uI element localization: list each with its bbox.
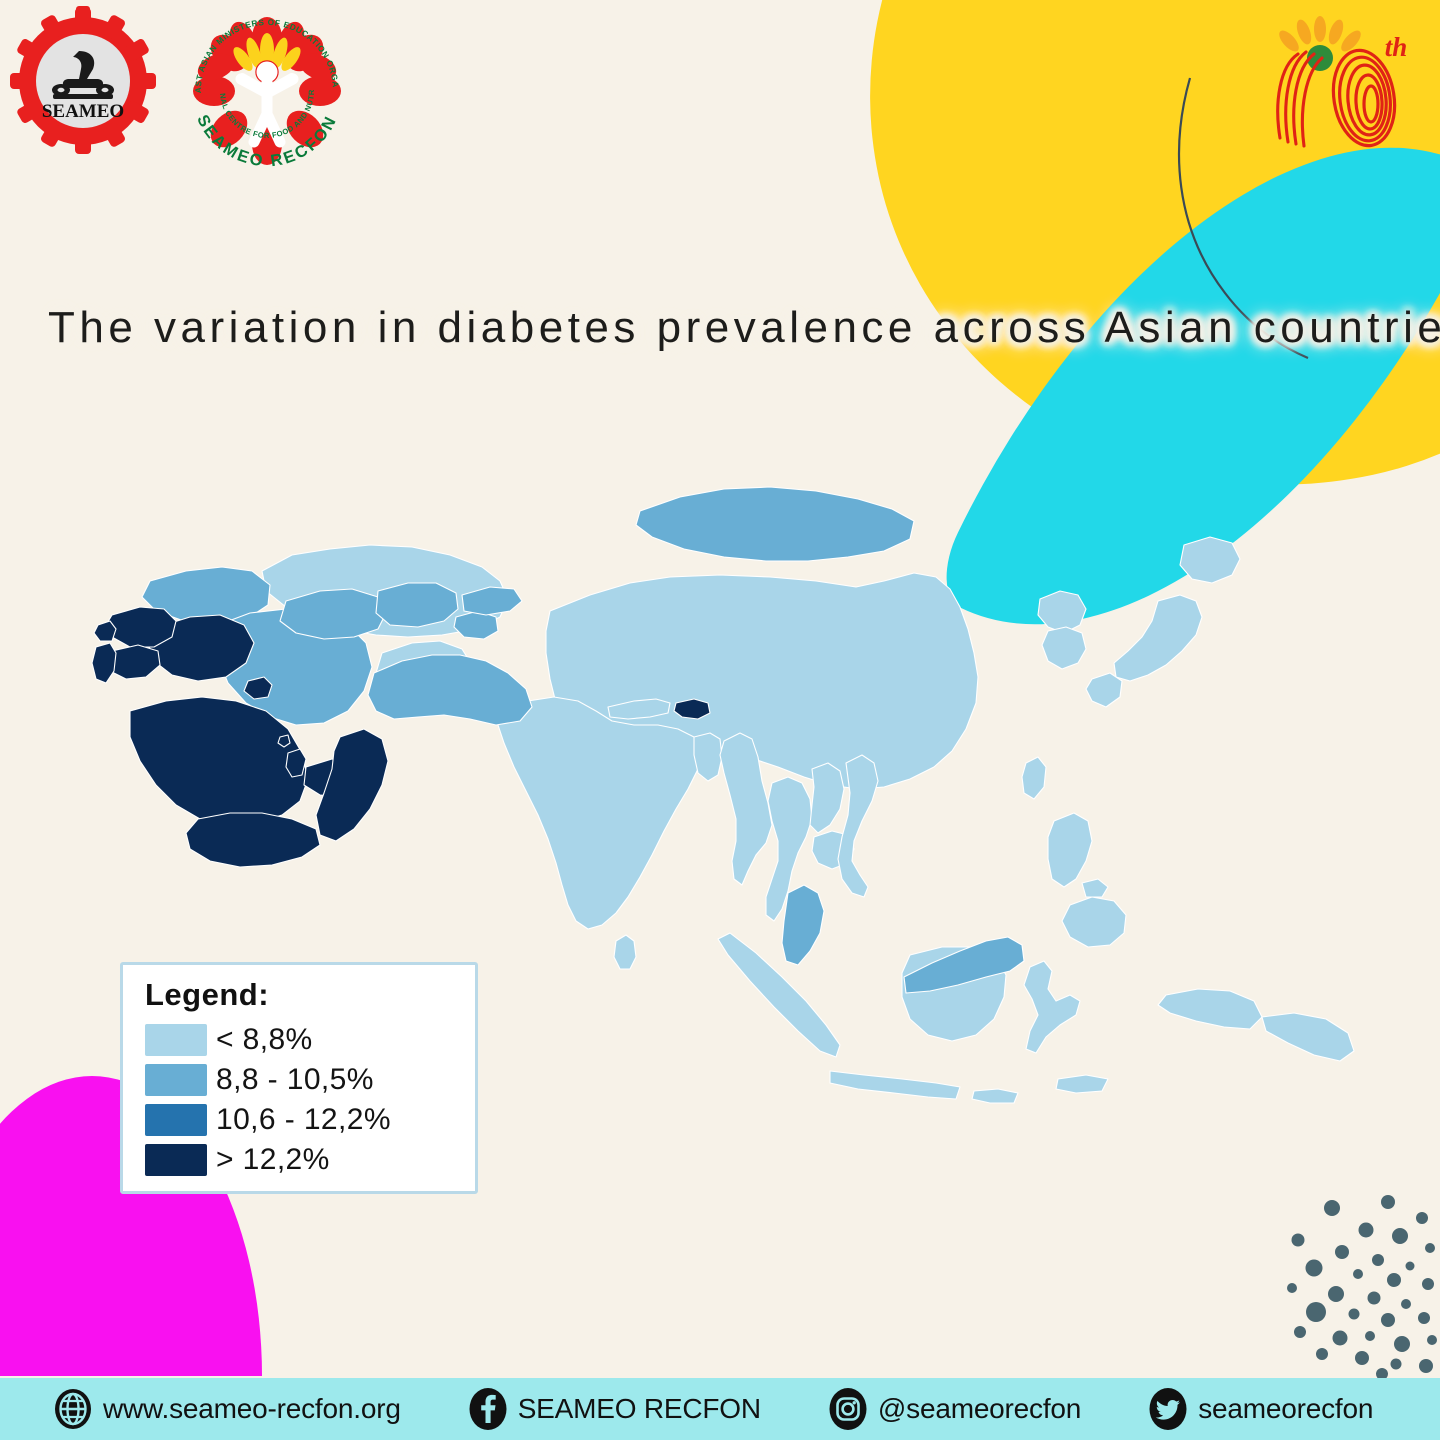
region-israel <box>92 643 116 683</box>
seameo-recfon-logo: SOUTHEAST ASIAN MINISTERS OF EDUCATION O… <box>176 0 358 182</box>
region-japan-hokkaido <box>1180 537 1240 583</box>
legend-label-3: > 12,2% <box>216 1143 330 1177</box>
seameo-logo-text: SEAMEO <box>42 101 124 122</box>
region-qatar <box>286 749 306 777</box>
region-bangladesh <box>694 733 722 781</box>
region-malaysia-peninsula <box>782 885 824 965</box>
region-japan-kyushu <box>1086 673 1122 707</box>
region-pakistan <box>368 655 532 725</box>
region-lebanon <box>94 621 116 641</box>
footer-item-twitter[interactable]: seameorecfon <box>1147 1378 1373 1440</box>
region-timor <box>1056 1075 1108 1093</box>
region-japan-honshu <box>1114 595 1202 681</box>
region-indonesia-sumatra <box>718 933 840 1057</box>
twitter-icon <box>1147 1387 1189 1431</box>
region-lesser-sunda <box>972 1089 1018 1103</box>
legend-label-0: < 8,8% <box>216 1023 313 1057</box>
footer-bar: www.seameo-recfon.org SEAMEO RECFON @sea… <box>0 1378 1440 1440</box>
region-syria <box>106 607 176 647</box>
region-india <box>498 697 702 929</box>
region-sri-lanka <box>614 935 636 969</box>
legend-item-0: < 8,8% <box>123 1023 475 1057</box>
legend-swatch-3 <box>145 1144 207 1176</box>
map-legend: Legend: < 8,8% 8,8 - 10,5% 10,6 - 12,2% … <box>120 962 478 1194</box>
legend-item-1: 8,8 - 10,5% <box>123 1063 475 1097</box>
legend-title: Legend: <box>123 975 475 1017</box>
legend-swatch-1 <box>145 1064 207 1096</box>
region-laos <box>810 763 844 833</box>
tenth-suffix-text: th <box>1385 32 1408 62</box>
footer-item-instagram[interactable]: @seameorecfon <box>827 1378 1081 1440</box>
legend-swatch-0 <box>145 1024 207 1056</box>
region-indonesia-papua <box>1158 989 1262 1029</box>
region-taiwan <box>1022 757 1046 799</box>
legend-swatch-2 <box>145 1104 207 1136</box>
region-mongolia <box>636 487 914 561</box>
footer-facebook-text: SEAMEO RECFON <box>518 1393 761 1425</box>
globe-icon <box>52 1388 94 1430</box>
region-oman <box>316 729 388 841</box>
region-south-korea <box>1042 627 1086 669</box>
region-yemen <box>186 813 320 867</box>
legend-label-1: 8,8 - 10,5% <box>216 1063 374 1097</box>
tenth-anniversary-logo: th <box>1236 14 1426 164</box>
region-indonesia-java <box>830 1071 960 1099</box>
instagram-icon <box>827 1387 869 1431</box>
footer-instagram-text: @seameorecfon <box>878 1393 1081 1425</box>
infographic-poster: SEAMEO <box>0 0 1440 1440</box>
legend-item-2: 10,6 - 12,2% <box>123 1103 475 1137</box>
logo-group: SEAMEO <box>8 6 358 182</box>
footer-website-text: www.seameo-recfon.org <box>103 1393 401 1425</box>
seameo-logo: SEAMEO <box>8 6 158 156</box>
legend-item-3: > 12,2% <box>123 1143 475 1177</box>
region-philippines-mindanao <box>1062 897 1126 947</box>
footer-twitter-text: seameorecfon <box>1198 1393 1373 1425</box>
region-philippines-visayas <box>1082 879 1108 897</box>
region-tajikistan <box>454 611 498 639</box>
footer-item-website[interactable]: www.seameo-recfon.org <box>52 1378 401 1440</box>
region-indonesia-sulawesi <box>1024 961 1080 1053</box>
page-title: The variation in diabetes prevalence acr… <box>48 303 1420 353</box>
region-north-korea <box>1038 591 1086 633</box>
dot-pattern-decoration <box>1270 1188 1440 1378</box>
region-philippines-luzon <box>1048 813 1092 887</box>
footer-item-facebook[interactable]: SEAMEO RECFON <box>467 1378 761 1440</box>
legend-label-2: 10,6 - 12,2% <box>216 1103 391 1137</box>
region-papua-new-guinea <box>1262 1013 1354 1061</box>
facebook-icon <box>467 1387 509 1431</box>
